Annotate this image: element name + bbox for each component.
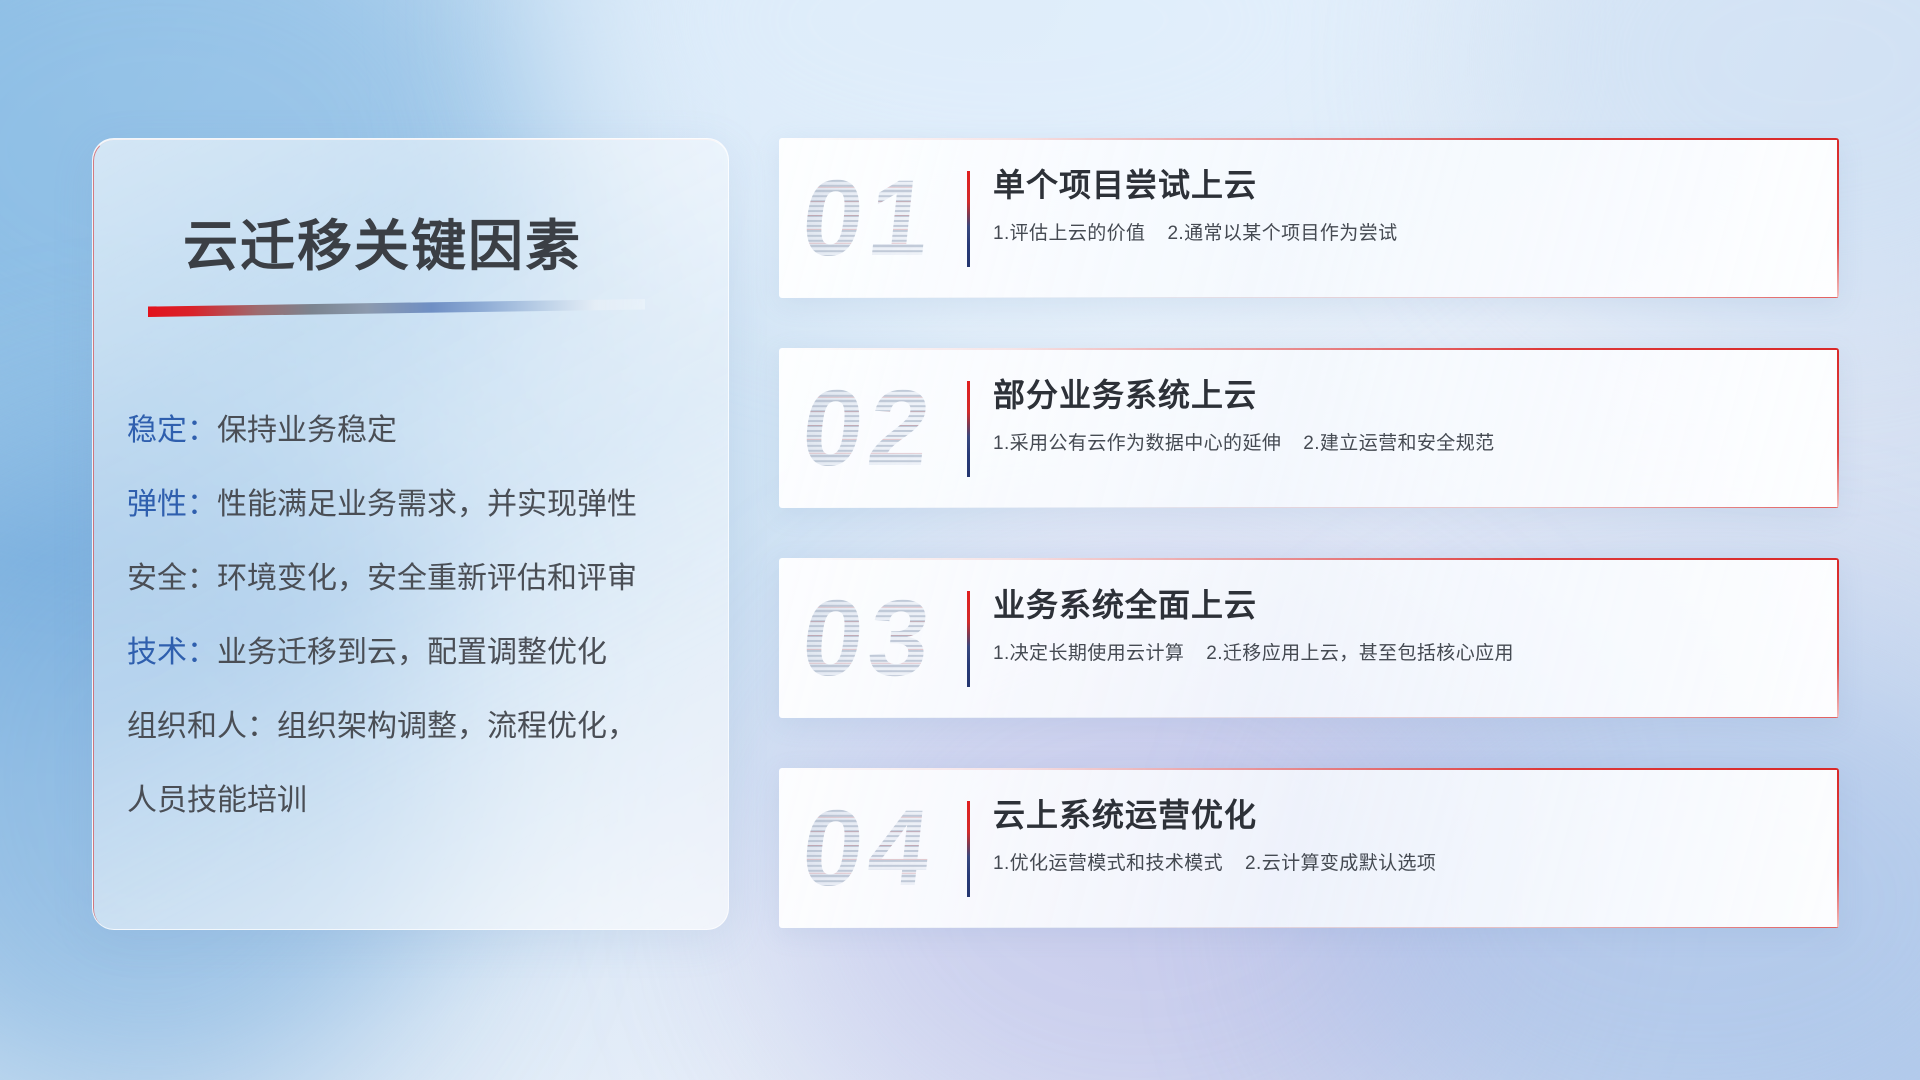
key-factor-text: 环境变化，安全重新评估和评审	[217, 562, 637, 595]
card-top-accent-rule	[779, 558, 1839, 560]
slide-canvas: 云迁移关键因素 稳定：保持业务稳定弹性：性能满足业务需求，并实现弹性安全：环境变…	[0, 0, 1920, 1080]
card-title: 云上系统运营优化	[993, 796, 1815, 834]
card-title: 业务系统全面上云	[993, 586, 1815, 624]
card-point-2: 2.迁移应用上云，甚至包括核心应用	[1206, 643, 1514, 664]
migration-stage-card-list: 0101单个项目尝试上云1.评估上云的价值2.通常以某个项目作为尝试0202部分…	[779, 138, 1839, 978]
card-point-2: 2.通常以某个项目作为尝试	[1167, 223, 1397, 244]
key-factor-item: 安全：环境变化，安全重新评估和评审	[127, 542, 707, 616]
card-top-accent-rule	[779, 768, 1839, 770]
key-factor-text: 保持业务稳定	[217, 414, 397, 447]
key-factor-text: 业务迁移到云，配置调整优化	[217, 636, 607, 669]
card-body: 业务系统全面上云1.决定长期使用云计算2.迁移应用上云，甚至包括核心应用	[993, 586, 1815, 665]
migration-stage-card[interactable]: 0404云上系统运营优化1.优化运营模式和技术模式2.云计算变成默认选项	[779, 768, 1839, 928]
card-subtitle: 1.决定长期使用云计算2.迁移应用上云，甚至包括核心应用	[993, 638, 1815, 665]
migration-stage-card[interactable]: 0202部分业务系统上云1.采用公有云作为数据中心的延伸2.建立运营和安全规范	[779, 348, 1839, 508]
key-factor-label: 弹性：	[127, 488, 217, 521]
card-point-2: 2.云计算变成默认选项	[1245, 853, 1436, 874]
key-factor-item: 人员技能培训	[127, 764, 707, 838]
card-step-number-watermark: 02	[797, 374, 940, 482]
migration-stage-card[interactable]: 0101单个项目尝试上云1.评估上云的价值2.通常以某个项目作为尝试	[779, 138, 1839, 298]
card-top-accent-rule	[779, 138, 1839, 140]
key-factor-label: 稳定：	[127, 414, 217, 447]
card-divider-bar	[967, 801, 970, 897]
card-body: 单个项目尝试上云1.评估上云的价值2.通常以某个项目作为尝试	[993, 166, 1815, 245]
card-right-accent-rule	[1837, 768, 1839, 928]
key-factor-label: 技术：	[127, 636, 217, 669]
migration-stage-card[interactable]: 0303业务系统全面上云1.决定长期使用云计算2.迁移应用上云，甚至包括核心应用	[779, 558, 1839, 718]
card-point-2: 2.建立运营和安全规范	[1303, 433, 1494, 454]
key-factors-panel: 云迁移关键因素 稳定：保持业务稳定弹性：性能满足业务需求，并实现弹性安全：环境变…	[92, 138, 729, 930]
title-underline-bar	[148, 299, 645, 317]
key-factor-item: 技术：业务迁移到云，配置调整优化	[127, 616, 707, 690]
key-factor-item: 组织和人：组织架构调整，流程优化，	[127, 690, 707, 764]
key-factor-item: 稳定：保持业务稳定	[127, 394, 707, 468]
card-divider-bar	[967, 591, 970, 687]
card-step-number-watermark: 01	[797, 164, 940, 272]
key-factors-list: 稳定：保持业务稳定弹性：性能满足业务需求，并实现弹性安全：环境变化，安全重新评估…	[127, 394, 707, 838]
card-body: 部分业务系统上云1.采用公有云作为数据中心的延伸2.建立运营和安全规范	[993, 376, 1815, 455]
card-divider-bar	[967, 171, 970, 267]
card-point-1: 1.决定长期使用云计算	[993, 643, 1184, 664]
key-factor-text: 人员技能培训	[127, 784, 307, 817]
card-bottom-accent-rule	[779, 297, 1839, 298]
card-right-accent-rule	[1837, 558, 1839, 718]
card-subtitle: 1.采用公有云作为数据中心的延伸2.建立运营和安全规范	[993, 428, 1815, 455]
card-bottom-accent-rule	[779, 717, 1839, 718]
card-top-accent-rule	[779, 348, 1839, 350]
card-point-1: 1.采用公有云作为数据中心的延伸	[993, 433, 1281, 454]
card-step-number-watermark: 03	[797, 584, 940, 692]
card-title: 部分业务系统上云	[993, 376, 1815, 414]
card-right-accent-rule	[1837, 348, 1839, 508]
key-factor-text: 组织架构调整，流程优化，	[277, 710, 637, 743]
card-title: 单个项目尝试上云	[993, 166, 1815, 204]
key-factor-item: 弹性：性能满足业务需求，并实现弹性	[127, 468, 707, 542]
title-underline-decoration	[148, 299, 645, 317]
page-title: 云迁移关键因素	[183, 201, 582, 281]
key-factor-label: 安全：	[127, 562, 217, 595]
card-subtitle: 1.优化运营模式和技术模式2.云计算变成默认选项	[993, 848, 1815, 875]
card-body: 云上系统运营优化1.优化运营模式和技术模式2.云计算变成默认选项	[993, 796, 1815, 875]
card-bottom-accent-rule	[779, 927, 1839, 928]
card-point-1: 1.评估上云的价值	[993, 223, 1145, 244]
card-step-number-watermark: 04	[797, 794, 940, 902]
card-divider-bar	[967, 381, 970, 477]
card-bottom-accent-rule	[779, 507, 1839, 508]
card-right-accent-rule	[1837, 138, 1839, 298]
card-subtitle: 1.评估上云的价值2.通常以某个项目作为尝试	[993, 218, 1815, 245]
key-factor-text: 性能满足业务需求，并实现弹性	[217, 488, 637, 521]
key-factor-label: 组织和人：	[127, 710, 277, 743]
card-point-1: 1.优化运营模式和技术模式	[993, 853, 1223, 874]
